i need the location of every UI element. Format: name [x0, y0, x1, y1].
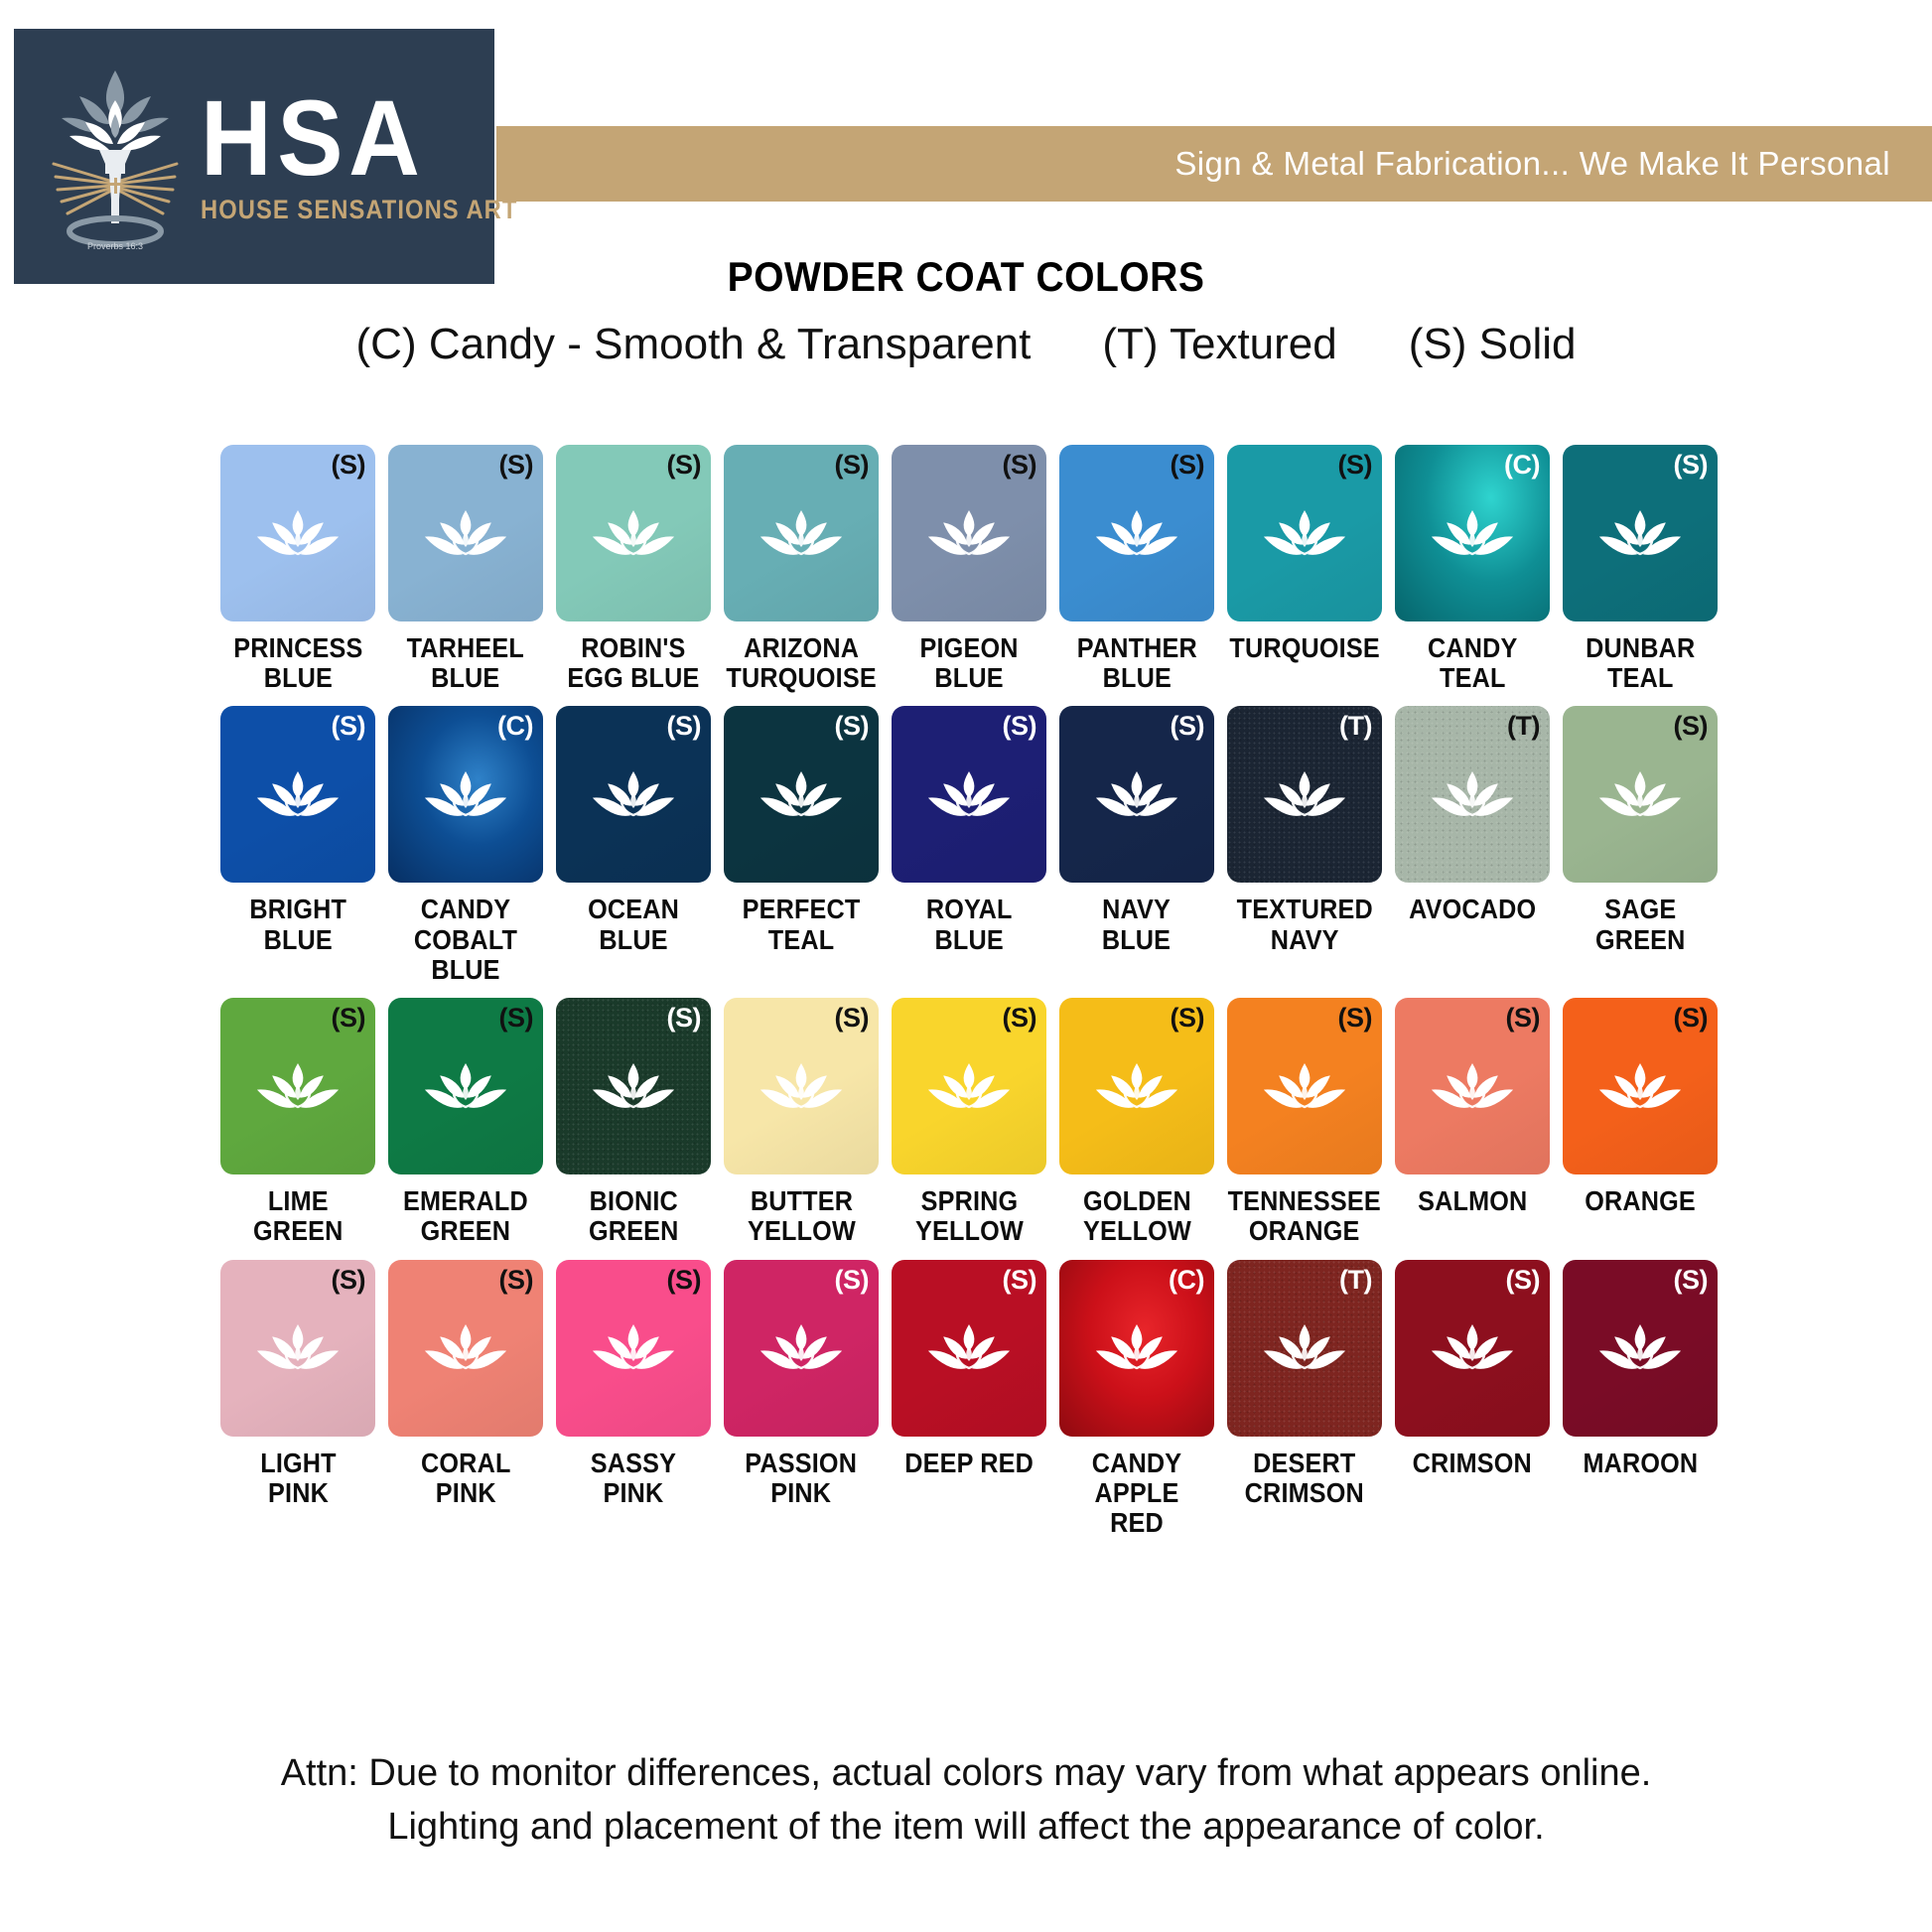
color-name-label: ORANGE	[1585, 1186, 1696, 1216]
color-chip[interactable]: (C)	[388, 706, 543, 883]
color-name-label: SAGE GREEN	[1595, 895, 1686, 954]
lotus-watermark-icon	[1263, 1323, 1346, 1379]
finish-badge: (S)	[835, 1265, 870, 1296]
lotus-watermark-icon	[1598, 509, 1682, 565]
color-chip[interactable]: (S)	[220, 706, 375, 883]
finish-badge: (S)	[1338, 1003, 1373, 1034]
swatch-cell[interactable]: (S) OCEAN BLUE	[556, 706, 711, 985]
swatch-cell[interactable]: (S) PERFECT TEAL	[724, 706, 879, 985]
swatch-cell[interactable]: (S) DEEP RED	[892, 1260, 1046, 1539]
lotus-watermark-icon	[1263, 509, 1346, 565]
color-chip[interactable]: (T)	[1227, 706, 1382, 883]
lotus-watermark-icon	[759, 1323, 843, 1379]
swatch-cell[interactable]: (S) MAROON	[1563, 1260, 1718, 1539]
color-name-label: LIGHT PINK	[260, 1449, 337, 1508]
color-chip[interactable]: (S)	[1059, 445, 1214, 621]
color-chip[interactable]: (S)	[1563, 706, 1718, 883]
color-name-label: PERFECT TEAL	[743, 895, 861, 954]
finish-badge: (S)	[667, 450, 702, 481]
color-name-label: MAROON	[1583, 1449, 1698, 1478]
lotus-watermark-icon	[424, 770, 507, 826]
lotus-watermark-icon	[592, 1062, 675, 1118]
finish-badge: (C)	[1504, 450, 1540, 481]
swatch-cell[interactable]: (S) PRINCESS BLUE	[220, 445, 375, 693]
color-chip[interactable]: (S)	[892, 706, 1046, 883]
swatch-row: (S) LIME GREEN(S) EMERALD GREEN(S) BIONI…	[220, 998, 1729, 1246]
color-name-label: TARHEEL BLUE	[407, 633, 524, 693]
swatch-cell[interactable]: (S) PASSION PINK	[724, 1260, 879, 1539]
finish-badge: (S)	[332, 450, 366, 481]
brand-name: HOUSE SENSATIONS ART	[201, 195, 517, 225]
swatch-cell[interactable]: (S) LIME GREEN	[220, 998, 375, 1246]
disclaimer-line-2: Lighting and placement of the item will …	[0, 1801, 1932, 1855]
color-chip[interactable]: (S)	[556, 445, 711, 621]
swatch-cell[interactable]: (S) ARIZONA TURQUOISE	[724, 445, 879, 693]
color-chip[interactable]: (S)	[1395, 998, 1550, 1174]
color-chip[interactable]: (C)	[1059, 1260, 1214, 1437]
lotus-watermark-icon	[592, 509, 675, 565]
lotus-watermark-icon	[1095, 1323, 1178, 1379]
finish-badge: (T)	[1339, 711, 1372, 742]
swatch-cell[interactable]: (C) CANDY APPLE RED	[1059, 1260, 1214, 1539]
lotus-watermark-icon	[759, 770, 843, 826]
finish-badge: (S)	[1674, 1265, 1709, 1296]
swatch-cell[interactable]: (S) SALMON	[1395, 998, 1550, 1246]
color-name-label: CANDY COBALT BLUE	[396, 895, 535, 985]
finish-badge: (S)	[835, 711, 870, 742]
disclaimer-note: Attn: Due to monitor differences, actual…	[0, 1747, 1932, 1855]
swatch-cell[interactable]: (S) BUTTER YELLOW	[724, 998, 879, 1246]
lotus-watermark-icon	[1431, 1062, 1514, 1118]
color-name-label: BRIGHT BLUE	[249, 895, 346, 954]
color-name-label: GOLDEN YELLOW	[1083, 1186, 1191, 1246]
color-name-label: TURQUOISE	[1229, 633, 1379, 663]
swatch-cell[interactable]: (S) ROYAL BLUE	[892, 706, 1046, 985]
lotus-watermark-icon	[1431, 1323, 1514, 1379]
color-chip[interactable]: (S)	[556, 706, 711, 883]
finish-badge: (C)	[497, 711, 533, 742]
color-chip[interactable]: (S)	[1059, 706, 1214, 883]
page-title: POWDER COAT COLORS	[68, 253, 1864, 301]
finish-badge: (S)	[499, 1003, 534, 1034]
finish-badge: (S)	[332, 1003, 366, 1034]
brand-abbrev: HSA	[201, 87, 532, 190]
page-header: Sign & Metal Fabrication... We Make It P…	[0, 0, 1932, 293]
color-name-label: DEEP RED	[904, 1449, 1034, 1478]
color-chip[interactable]: (S)	[388, 998, 543, 1174]
lotus-watermark-icon	[1263, 770, 1346, 826]
color-name-label: EMERALD GREEN	[403, 1186, 528, 1246]
color-name-label: TEXTURED NAVY	[1236, 895, 1372, 954]
color-name-label: ARIZONA TURQUOISE	[726, 633, 876, 693]
finish-badge: (S)	[499, 1265, 534, 1296]
swatch-cell[interactable]: (C) CANDY TEAL	[1395, 445, 1550, 693]
disclaimer-line-1: Attn: Due to monitor differences, actual…	[0, 1747, 1932, 1801]
color-name-label: PRINCESS BLUE	[233, 633, 362, 693]
lotus-watermark-icon	[927, 1062, 1011, 1118]
swatch-cell[interactable]: (S) SPRING YELLOW	[892, 998, 1046, 1246]
finish-badge: (S)	[1338, 450, 1373, 481]
brand-logo-box: Proverbs 16:3 HSA HOUSE SENSATIONS ART	[14, 29, 494, 284]
finish-legend: (C) Candy - Smooth & Transparent (T) Tex…	[0, 320, 1932, 369]
color-name-label: LIME GREEN	[253, 1186, 344, 1246]
swatch-cell[interactable]: (S) PANTHER BLUE	[1059, 445, 1214, 693]
color-chip[interactable]: (S)	[724, 998, 879, 1174]
color-name-label: NAVY BLUE	[1102, 895, 1171, 954]
color-chip[interactable]: (S)	[1227, 445, 1382, 621]
lotus-watermark-icon	[592, 770, 675, 826]
swatch-row: (S) BRIGHT BLUE(C) CANDY COBALT BLUE(S) …	[220, 706, 1729, 985]
lotus-watermark-icon	[256, 509, 340, 565]
color-name-label: SASSY PINK	[591, 1449, 676, 1508]
color-name-label: CANDY TEAL	[1428, 633, 1518, 693]
lotus-watermark-icon	[424, 1323, 507, 1379]
swatch-cell[interactable]: (S) CRIMSON	[1395, 1260, 1550, 1539]
color-swatch-grid: (S) PRINCESS BLUE(S) TARHEEL BLUE(S) ROB…	[220, 445, 1729, 1538]
lotus-watermark-icon	[1431, 509, 1514, 565]
lotus-watermark-icon	[256, 770, 340, 826]
swatch-cell[interactable]: (S) BRIGHT BLUE	[220, 706, 375, 985]
finish-badge: (S)	[1506, 1265, 1541, 1296]
color-name-label: DUNBAR TEAL	[1586, 633, 1695, 693]
finish-badge: (S)	[1003, 1265, 1037, 1296]
lotus-watermark-icon	[927, 1323, 1011, 1379]
swatch-cell[interactable]: (S) ORANGE	[1563, 998, 1718, 1246]
color-chip[interactable]: (S)	[1059, 998, 1214, 1174]
finish-badge: (S)	[1003, 450, 1037, 481]
color-name-label: CANDY APPLE RED	[1067, 1449, 1206, 1539]
finish-badge: (S)	[499, 450, 534, 481]
lotus-watermark-icon	[759, 1062, 843, 1118]
tagline-text: Sign & Metal Fabrication... We Make It P…	[1174, 145, 1890, 183]
swatch-cell[interactable]: (S) ROBIN'S EGG BLUE	[556, 445, 711, 693]
swatch-cell[interactable]: (S) GOLDEN YELLOW	[1059, 998, 1214, 1246]
color-name-label: ROYAL BLUE	[926, 895, 1013, 954]
color-chip[interactable]: (S)	[892, 1260, 1046, 1437]
logo-verse-text: Proverbs 16:3	[87, 241, 143, 251]
color-chip[interactable]: (S)	[1395, 1260, 1550, 1437]
lotus-watermark-icon	[256, 1062, 340, 1118]
finish-badge: (S)	[1674, 1003, 1709, 1034]
lotus-torch-logo-icon: Proverbs 16:3	[36, 53, 195, 261]
lotus-watermark-icon	[592, 1323, 675, 1379]
color-chip[interactable]: (C)	[1395, 445, 1550, 621]
swatch-cell[interactable]: (T) TEXTURED NAVY	[1227, 706, 1382, 985]
color-name-label: SALMON	[1418, 1186, 1527, 1216]
color-name-label: PASSION PINK	[746, 1449, 858, 1508]
finish-badge: (S)	[1003, 711, 1037, 742]
swatch-cell[interactable]: (C) CANDY COBALT BLUE	[388, 706, 543, 985]
finish-badge: (S)	[1674, 711, 1709, 742]
finish-badge: (S)	[667, 1003, 702, 1034]
legend-item-solid: (S) Solid	[1409, 320, 1577, 369]
finish-badge: (T)	[1339, 1265, 1372, 1296]
swatch-cell[interactable]: (S) NAVY BLUE	[1059, 706, 1214, 985]
finish-badge: (S)	[1674, 450, 1709, 481]
color-chip[interactable]: (S)	[556, 1260, 711, 1437]
finish-badge: (S)	[332, 1265, 366, 1296]
lotus-watermark-icon	[927, 770, 1011, 826]
color-chip[interactable]: (S)	[220, 998, 375, 1174]
color-name-label: DESERT CRIMSON	[1245, 1449, 1364, 1508]
legend-item-candy: (C) Candy - Smooth & Transparent	[356, 320, 1032, 369]
lotus-watermark-icon	[759, 509, 843, 565]
finish-badge: (S)	[667, 711, 702, 742]
swatch-cell[interactable]: (S) TENNESSEE ORANGE	[1227, 998, 1382, 1246]
color-chip[interactable]: (S)	[388, 445, 543, 621]
tagline-bar: Sign & Metal Fabrication... We Make It P…	[496, 126, 1932, 202]
swatch-cell[interactable]: (S) SAGE GREEN	[1563, 706, 1718, 985]
swatch-cell[interactable]: (S) TURQUOISE	[1227, 445, 1382, 693]
swatch-cell[interactable]: (T) AVOCADO	[1395, 706, 1550, 985]
lotus-watermark-icon	[424, 509, 507, 565]
finish-badge: (S)	[1171, 450, 1205, 481]
color-name-label: OCEAN BLUE	[588, 895, 679, 954]
swatch-cell[interactable]: (S) TARHEEL BLUE	[388, 445, 543, 693]
color-chip[interactable]: (T)	[1395, 706, 1550, 883]
color-name-label: PIGEON BLUE	[919, 633, 1018, 693]
finish-badge: (T)	[1507, 711, 1540, 742]
lotus-watermark-icon	[1095, 1062, 1178, 1118]
color-chip[interactable]: (S)	[1563, 445, 1718, 621]
swatch-cell[interactable]: (S) DUNBAR TEAL	[1563, 445, 1718, 693]
swatch-cell[interactable]: (S) SASSY PINK	[556, 1260, 711, 1539]
color-chip[interactable]: (S)	[892, 998, 1046, 1174]
lotus-watermark-icon	[1431, 770, 1514, 826]
lotus-watermark-icon	[1095, 509, 1178, 565]
color-chip[interactable]: (S)	[892, 445, 1046, 621]
finish-badge: (S)	[835, 450, 870, 481]
color-chip[interactable]: (S)	[724, 706, 879, 883]
lotus-watermark-icon	[256, 1323, 340, 1379]
lotus-watermark-icon	[424, 1062, 507, 1118]
color-name-label: TENNESSEE ORANGE	[1228, 1186, 1381, 1246]
color-chip[interactable]: (S)	[388, 1260, 543, 1437]
color-name-label: PANTHER BLUE	[1076, 633, 1196, 693]
lotus-watermark-icon	[927, 509, 1011, 565]
color-chip[interactable]: (S)	[1227, 998, 1382, 1174]
color-name-label: SPRING YELLOW	[915, 1186, 1024, 1246]
lotus-watermark-icon	[1263, 1062, 1346, 1118]
color-name-label: CORAL PINK	[421, 1449, 510, 1508]
color-chip[interactable]: (S)	[220, 445, 375, 621]
color-chip[interactable]: (S)	[220, 1260, 375, 1437]
lotus-watermark-icon	[1095, 770, 1178, 826]
lotus-watermark-icon	[1598, 1323, 1682, 1379]
swatch-cell[interactable]: (S) EMERALD GREEN	[388, 998, 543, 1246]
swatch-cell[interactable]: (S) BIONIC GREEN	[556, 998, 711, 1246]
swatch-cell[interactable]: (S) PIGEON BLUE	[892, 445, 1046, 693]
lotus-watermark-icon	[1598, 770, 1682, 826]
finish-badge: (S)	[835, 1003, 870, 1034]
color-chip[interactable]: (S)	[1563, 1260, 1718, 1437]
color-chip[interactable]: (S)	[724, 445, 879, 621]
color-name-label: ROBIN'S EGG BLUE	[567, 633, 699, 693]
swatch-cell[interactable]: (S) LIGHT PINK	[220, 1260, 375, 1539]
finish-badge: (S)	[1506, 1003, 1541, 1034]
color-chip[interactable]: (S)	[556, 998, 711, 1174]
finish-badge: (S)	[1003, 1003, 1037, 1034]
swatch-cell[interactable]: (T) DESERT CRIMSON	[1227, 1260, 1382, 1539]
color-name-label: BIONIC GREEN	[589, 1186, 679, 1246]
finish-badge: (S)	[332, 711, 366, 742]
lotus-watermark-icon	[1598, 1062, 1682, 1118]
color-chip[interactable]: (S)	[1563, 998, 1718, 1174]
color-chip[interactable]: (S)	[724, 1260, 879, 1437]
color-name-label: CRIMSON	[1413, 1449, 1532, 1478]
brand-wordmark: HSA HOUSE SENSATIONS ART	[201, 87, 561, 226]
finish-badge: (C)	[1169, 1265, 1204, 1296]
swatch-row: (S) LIGHT PINK(S) CORAL PINK(S) SASSY PI…	[220, 1260, 1729, 1539]
swatch-row: (S) PRINCESS BLUE(S) TARHEEL BLUE(S) ROB…	[220, 445, 1729, 693]
color-name-label: BUTTER YELLOW	[748, 1186, 856, 1246]
color-chip[interactable]: (T)	[1227, 1260, 1382, 1437]
legend-item-textured: (T) Textured	[1102, 320, 1336, 369]
finish-badge: (S)	[667, 1265, 702, 1296]
swatch-cell[interactable]: (S) CORAL PINK	[388, 1260, 543, 1539]
finish-badge: (S)	[1171, 711, 1205, 742]
finish-badge: (S)	[1171, 1003, 1205, 1034]
color-name-label: AVOCADO	[1409, 895, 1536, 924]
